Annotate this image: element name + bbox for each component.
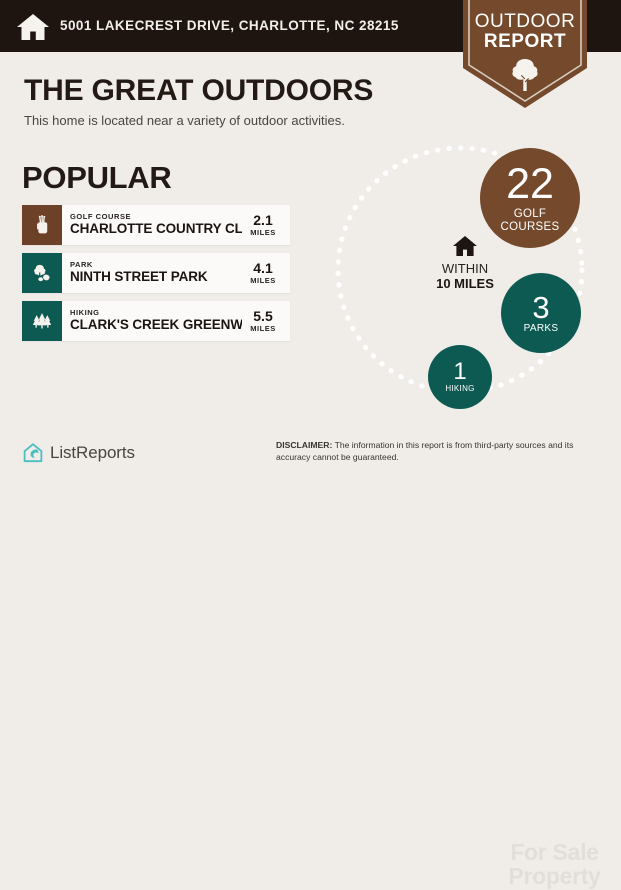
listreports-logo[interactable]: ListReports xyxy=(22,442,135,464)
list-item-text: GOLF COURSE CHARLOTTE COUNTRY CLUB xyxy=(62,205,242,245)
stat-count: 3 xyxy=(532,292,549,323)
outdoor-report-badge: OUTDOOR REPORT xyxy=(463,0,587,108)
distance-value: 5.5 xyxy=(253,309,272,324)
list-item[interactable]: PARK NINTH STREET PARK 4.1 MILES xyxy=(22,253,290,293)
badge-title-line2: REPORT xyxy=(463,32,587,52)
listreports-house-icon xyxy=(22,442,44,464)
stat-label: GOLF COURSES xyxy=(501,208,560,233)
stat-circle-hiking[interactable]: 1 HIKING xyxy=(428,345,492,409)
page-subtitle: This home is located near a variety of o… xyxy=(24,113,345,128)
golf-bag-icon xyxy=(22,205,62,245)
tree-icon xyxy=(510,57,540,91)
within-label-line2: 10 MILES xyxy=(410,277,520,292)
stat-label: HIKING xyxy=(445,385,474,394)
park-tree-icon xyxy=(22,253,62,293)
distance-unit: MILES xyxy=(250,276,275,285)
stat-count: 22 xyxy=(506,163,554,206)
stat-circle-golf-courses[interactable]: 22 GOLF COURSES xyxy=(480,148,580,248)
listreports-logo-text: ListReports xyxy=(50,443,135,463)
watermark-line1: For Sale xyxy=(510,839,598,865)
badge-title: OUTDOOR REPORT xyxy=(463,12,587,52)
watermark-line2: Property xyxy=(508,863,600,889)
list-item-category: GOLF COURSE xyxy=(70,213,242,221)
home-icon xyxy=(452,235,478,257)
within-label-line1: WITHIN xyxy=(410,262,520,277)
disclaimer-label: DISCLAIMER: xyxy=(276,440,332,450)
within-radius-infographic: 22 GOLF COURSES 3 PARKS 1 HIKING WITHIN … xyxy=(330,140,621,415)
list-item-name: CLARK'S CREEK GREENWAY xyxy=(70,317,242,333)
popular-heading: POPULAR xyxy=(22,160,171,196)
within-radius-center: WITHIN 10 MILES xyxy=(410,235,520,292)
property-address: 5001 LAKECREST DRIVE, CHARLOTTE, NC 2821… xyxy=(60,18,399,33)
pine-trees-icon xyxy=(22,301,62,341)
list-item-text: PARK NINTH STREET PARK xyxy=(62,253,242,293)
list-item-name: NINTH STREET PARK xyxy=(70,269,242,285)
distance-value: 2.1 xyxy=(253,213,272,228)
stat-label-line2: COURSES xyxy=(501,221,560,233)
disclaimer: DISCLAIMER: The information in this repo… xyxy=(276,439,596,464)
list-item-text: HIKING CLARK'S CREEK GREENWAY xyxy=(62,301,242,341)
list-item-distance: 2.1 MILES xyxy=(242,205,290,245)
list-item-name: CHARLOTTE COUNTRY CLUB xyxy=(70,221,242,237)
distance-unit: MILES xyxy=(250,324,275,333)
page-title: THE GREAT OUTDOORS xyxy=(24,74,373,108)
distance-unit: MILES xyxy=(250,228,275,237)
popular-list: GOLF COURSE CHARLOTTE COUNTRY CLUB 2.1 M… xyxy=(22,205,290,349)
distance-value: 4.1 xyxy=(253,261,272,276)
badge-title-line1: OUTDOOR xyxy=(463,12,587,32)
footer: ListReports DISCLAIMER: The information … xyxy=(0,420,621,480)
home-icon xyxy=(16,12,50,42)
stat-label: PARKS xyxy=(524,324,559,335)
outdoor-report-page: 5001 LAKECREST DRIVE, CHARLOTTE, NC 2821… xyxy=(0,0,621,480)
stat-label-line1: GOLF xyxy=(514,208,547,220)
stat-count: 1 xyxy=(453,360,466,384)
list-item-distance: 5.5 MILES xyxy=(242,301,290,341)
list-item[interactable]: HIKING CLARK'S CREEK GREENWAY 5.5 MILES xyxy=(22,301,290,341)
list-item-distance: 4.1 MILES xyxy=(242,253,290,293)
list-item-category: PARK xyxy=(70,261,242,269)
list-item[interactable]: GOLF COURSE CHARLOTTE COUNTRY CLUB 2.1 M… xyxy=(22,205,290,245)
for-sale-watermark: For Sale Property xyxy=(492,840,617,890)
list-item-category: HIKING xyxy=(70,309,242,317)
